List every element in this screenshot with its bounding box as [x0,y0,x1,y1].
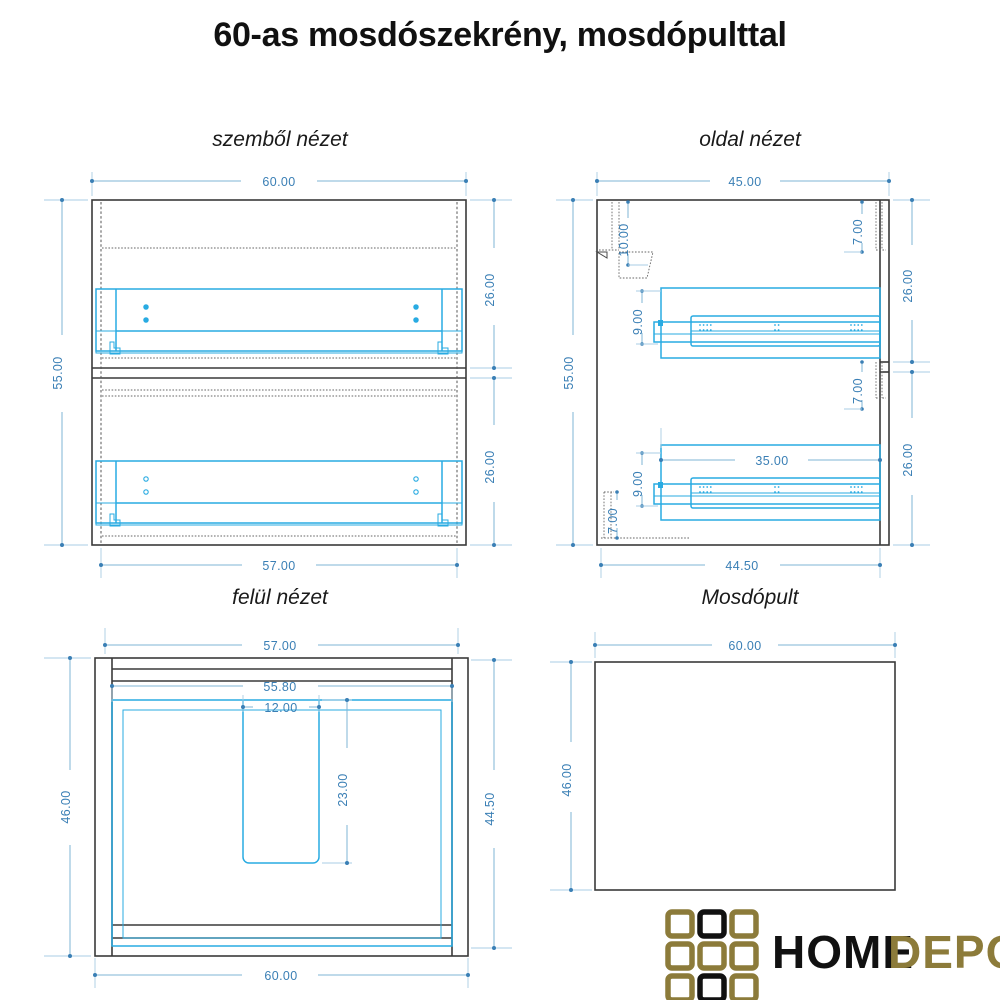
dim-counter-width: 60.00 [593,632,897,658]
dim-text: 26.00 [483,273,497,306]
dim-text: 55.00 [562,356,576,389]
dim-counter-depth: 46.00 [550,660,592,892]
dim-side-upper-drawer-height: 26.00 [893,198,930,364]
dim-front-inner-width: 57.00 [99,548,459,578]
dim-text: 9.00 [631,471,645,497]
dim-front-upper-drawer-height: 26.00 [470,198,512,370]
dim-side-top-back-offset: 10.00 [617,200,648,267]
dim-top-inner-width: 57.00 [103,628,460,654]
dim-top-inner-depth: 44.50 [471,658,512,950]
dim-text: 46.00 [59,790,73,823]
dim-text: 7.00 [851,219,865,245]
view-counter: 60.00 46.00 [550,632,897,892]
dim-text: 9.00 [631,309,645,335]
dim-side-upper-slide-offset: 9.00 [631,289,661,346]
dim-text: 35.00 [755,454,788,468]
dim-top-cutout-width: 12.00 [241,695,321,715]
dim-text: 10.00 [617,223,631,256]
view-side: 45.00 55.00 10.00 [556,172,930,578]
dim-side-upper-rear-gap: 7.00 [844,200,865,254]
dim-front-overall-height: 55.00 [44,198,88,547]
dim-top-cutout-depth: 23.00 [322,698,352,865]
dim-text: 26.00 [901,443,915,476]
front-lower-drawer [96,461,462,526]
dim-text: 57.00 [262,559,295,573]
dim-text: 60.00 [728,639,761,653]
dim-text: 7.00 [606,508,620,534]
dim-text: 60.00 [264,969,297,983]
dim-text: 7.00 [851,378,865,404]
dim-top-drawer-inner-width: 55.80 [110,680,454,702]
dim-text: 44.50 [483,792,497,825]
dim-side-bottom-front-offset: 7.00 [606,490,620,540]
dim-text: 55.80 [263,680,296,694]
front-upper-drawer [96,289,462,354]
dim-top-overall-depth: 46.00 [44,656,91,958]
dim-side-drawer-slide-length: 35.00 [659,428,882,468]
technical-drawing-svg: .ol{fill:none;stroke:#3a3a3a;stroke-widt… [0,0,1000,1000]
drawing-sheet: 60-as mosdószekrény, mosdópulttal szembő… [0,0,1000,1000]
top-drawer-outline [112,700,452,946]
dim-side-lower-slide-offset: 9.00 [631,451,661,508]
dim-side-overall-depth: 45.00 [595,172,891,196]
dim-text: 26.00 [483,450,497,483]
dim-text: 26.00 [901,269,915,302]
dim-side-inner-depth: 44.50 [599,548,882,578]
dim-side-lower-rear-gap: 7.00 [844,360,865,411]
dim-front-overall-width: 60.00 [90,172,468,196]
side-upper-drawer [654,288,880,358]
dim-text: 23.00 [336,773,350,806]
dim-text: 55.00 [51,356,65,389]
dim-text: 60.00 [262,175,295,189]
view-top: 57.00 55.80 12.00 [44,628,512,988]
dim-text: 44.50 [725,559,758,573]
dim-top-overall-width: 60.00 [93,958,470,988]
view-front: 60.00 55.00 26.00 [44,172,512,578]
dim-text: 12.00 [264,701,297,715]
dim-text: 45.00 [728,175,761,189]
dim-text: 46.00 [560,763,574,796]
logo-text-depo: DEPO [888,926,1000,978]
dim-front-lower-drawer-height: 26.00 [470,376,512,547]
logo-grid-icon [668,912,756,1000]
dim-side-overall-height: 55.00 [556,198,593,547]
homedepo-logo: HOME DEPO [668,912,1000,1000]
dim-text: 57.00 [263,639,296,653]
dim-side-lower-drawer-height: 26.00 [893,370,930,547]
top-sink-cutout [243,700,319,863]
